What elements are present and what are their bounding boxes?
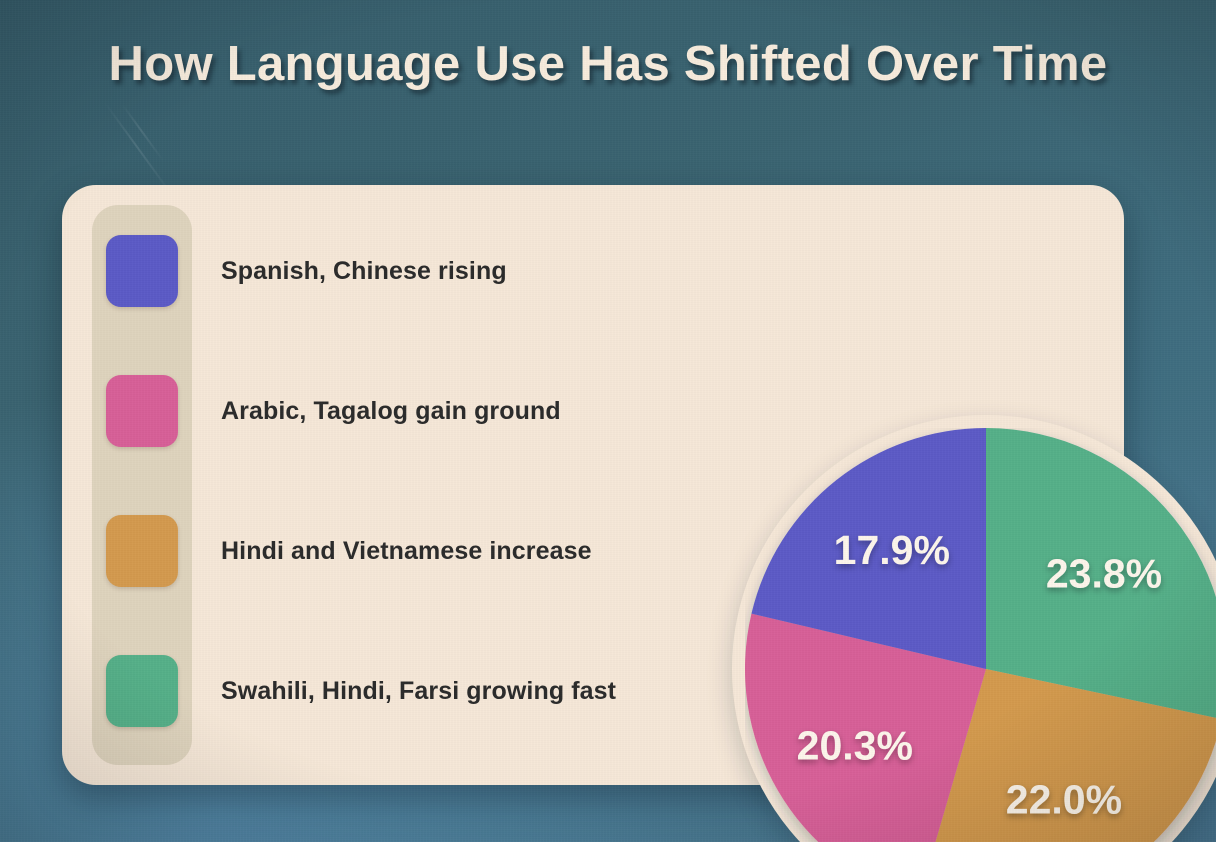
legend: Spanish, Chinese rising Arabic, Tagalog … bbox=[92, 205, 732, 765]
pie-slice-value-label: 20.3% bbox=[797, 722, 913, 768]
legend-item-label: Hindi and Vietnamese increase bbox=[221, 537, 592, 566]
page-title: How Language Use Has Shifted Over Time bbox=[0, 36, 1216, 92]
legend-swatch-icon bbox=[106, 375, 178, 447]
pie-slice-value-label: 22.0% bbox=[1006, 776, 1122, 822]
infographic-canvas: How Language Use Has Shifted Over Time S… bbox=[0, 0, 1216, 842]
pie-slice-group bbox=[745, 428, 1216, 842]
pie-slice-value-label: 17.9% bbox=[834, 527, 950, 573]
legend-swatch-icon bbox=[106, 655, 178, 727]
legend-item-spanish-chinese[interactable]: Spanish, Chinese rising bbox=[92, 223, 732, 319]
pie-slice-value-label: 23.8% bbox=[1046, 551, 1162, 597]
legend-item-label: Spanish, Chinese rising bbox=[221, 257, 507, 286]
content-card: Spanish, Chinese rising Arabic, Tagalog … bbox=[62, 185, 1124, 785]
legend-item-label: Arabic, Tagalog gain ground bbox=[221, 397, 561, 426]
legend-item-swahili-hindi-farsi[interactable]: Swahili, Hindi, Farsi growing fast bbox=[92, 643, 732, 739]
legend-item-label: Swahili, Hindi, Farsi growing fast bbox=[221, 677, 616, 706]
pie-chart: 23.8%22.0%20.3%17.9% bbox=[745, 428, 1216, 842]
legend-swatch-icon bbox=[106, 515, 178, 587]
legend-swatch-icon bbox=[106, 235, 178, 307]
pie-chart-svg: 23.8%22.0%20.3%17.9% bbox=[745, 428, 1216, 842]
background-scratch bbox=[122, 104, 165, 162]
legend-item-arabic-tagalog[interactable]: Arabic, Tagalog gain ground bbox=[92, 363, 732, 459]
legend-item-hindi-vietnamese[interactable]: Hindi and Vietnamese increase bbox=[92, 503, 732, 599]
